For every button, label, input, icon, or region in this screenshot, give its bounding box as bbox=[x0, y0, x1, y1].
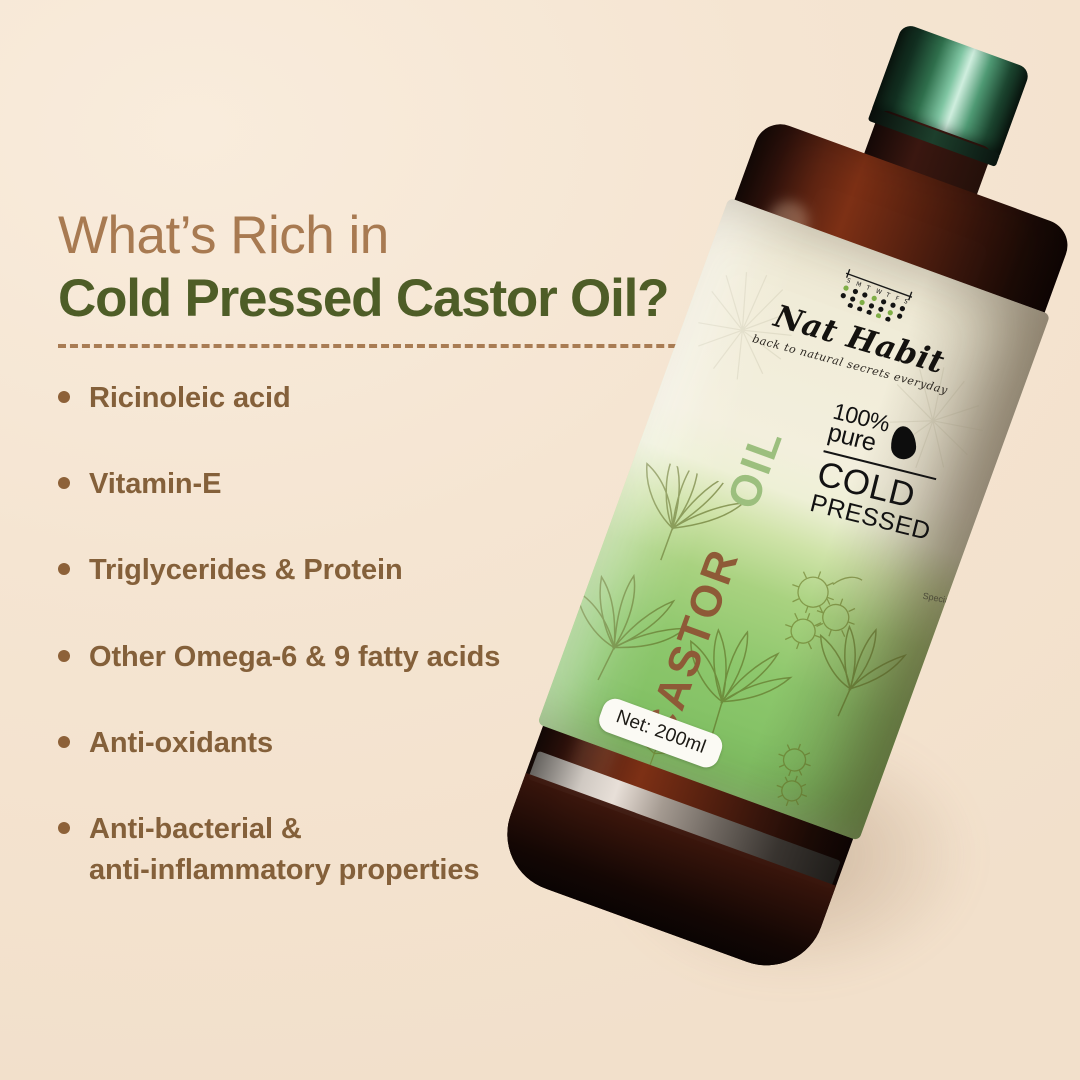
product-image: S M T W T F S bbox=[526, 0, 1080, 1080]
svg-text:M: M bbox=[855, 281, 862, 289]
bullet-dot-icon bbox=[58, 650, 70, 662]
benefit-label: Ricinoleic acid bbox=[89, 378, 291, 419]
product-poster: What’s Rich in Cold Pressed Castor Oil? … bbox=[0, 0, 1080, 1080]
bullet-dot-icon bbox=[58, 477, 70, 489]
svg-text:W: W bbox=[875, 288, 883, 297]
bullet-dot-icon bbox=[58, 563, 70, 575]
benefit-label: Anti-bacterial & anti-inflammatory prope… bbox=[89, 809, 479, 891]
bullet-dot-icon bbox=[58, 736, 70, 748]
oil-drop-icon bbox=[891, 426, 917, 460]
svg-text:T: T bbox=[864, 284, 871, 292]
svg-text:F: F bbox=[894, 295, 900, 303]
benefit-label: Other Omega-6 & 9 fatty acids bbox=[89, 637, 500, 678]
benefit-label: Triglycerides & Protein bbox=[89, 550, 403, 591]
bullet-dot-icon bbox=[58, 822, 70, 834]
svg-text:S: S bbox=[846, 277, 852, 285]
svg-text:T: T bbox=[884, 291, 891, 299]
benefit-label: Anti-oxidants bbox=[89, 723, 273, 764]
bullet-dot-icon bbox=[58, 391, 70, 403]
svg-text:S: S bbox=[903, 298, 909, 306]
benefit-label: Vitamin-E bbox=[89, 464, 221, 505]
